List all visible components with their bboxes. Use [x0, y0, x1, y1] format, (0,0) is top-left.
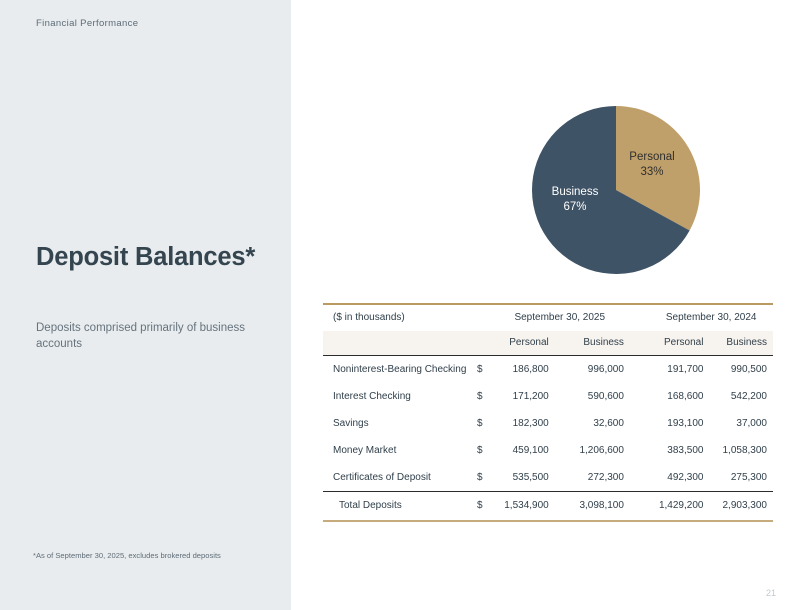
table-period-header-2025: September 30, 2025	[490, 304, 630, 331]
row-label: Savings	[323, 410, 477, 437]
table-header-period-row: ($ in thousands) September 30, 2025 Sept…	[323, 304, 773, 331]
total-gap	[630, 491, 649, 521]
row-gap	[630, 464, 649, 492]
row-currency: $	[477, 410, 490, 437]
row-label: Interest Checking	[323, 383, 477, 410]
row-personal-2024: 383,500	[649, 437, 709, 464]
deposit-balances-table: ($ in thousands) September 30, 2025 Sept…	[323, 303, 773, 522]
section-eyebrow: Financial Performance	[36, 18, 138, 29]
table-row: Noninterest-Bearing Checking $ 186,800 9…	[323, 355, 773, 383]
row-business-2024: 1,058,300	[709, 437, 773, 464]
row-business-2025: 996,000	[555, 355, 630, 383]
total-business-2024: 2,903,300	[709, 491, 773, 521]
pie-svg	[530, 104, 702, 276]
row-currency: $	[477, 464, 490, 492]
row-label: Certificates of Deposit	[323, 464, 477, 492]
row-personal-2025: 186,800	[490, 355, 555, 383]
table-subheader-personal-2025: Personal	[490, 331, 555, 356]
table-units-label: ($ in thousands)	[323, 304, 490, 331]
total-personal-2025: 1,534,900	[490, 491, 555, 521]
left-title-panel: Financial Performance Deposit Balances* …	[0, 0, 291, 610]
row-personal-2024: 193,100	[649, 410, 709, 437]
table-subheader-blank	[323, 331, 490, 356]
row-currency: $	[477, 355, 490, 383]
row-personal-2024: 492,300	[649, 464, 709, 492]
row-business-2025: 32,600	[555, 410, 630, 437]
row-business-2024: 37,000	[709, 410, 773, 437]
row-gap	[630, 437, 649, 464]
row-currency: $	[477, 437, 490, 464]
total-currency: $	[477, 491, 490, 521]
deposit-mix-pie-chart: Personal 33% Business 67%	[530, 104, 702, 276]
row-gap	[630, 383, 649, 410]
row-personal-2025: 182,300	[490, 410, 555, 437]
table-total-row: Total Deposits $ 1,534,900 3,098,100 1,4…	[323, 491, 773, 521]
row-label: Noninterest-Bearing Checking	[323, 355, 477, 383]
content-area: Personal 33% Business 67% ($ in thousand…	[291, 0, 800, 610]
table-header-gap	[630, 304, 649, 331]
row-business-2025: 272,300	[555, 464, 630, 492]
table-subheader-personal-2024: Personal	[649, 331, 709, 356]
table-body: Noninterest-Bearing Checking $ 186,800 9…	[323, 355, 773, 521]
row-personal-2025: 171,200	[490, 383, 555, 410]
row-business-2025: 590,600	[555, 383, 630, 410]
row-personal-2024: 168,600	[649, 383, 709, 410]
row-gap	[630, 410, 649, 437]
row-personal-2024: 191,700	[649, 355, 709, 383]
table-subheader-gap	[630, 331, 649, 356]
total-business-2025: 3,098,100	[555, 491, 630, 521]
row-personal-2025: 535,500	[490, 464, 555, 492]
table-subheader-business-2024: Business	[709, 331, 773, 356]
row-label: Money Market	[323, 437, 477, 464]
table-period-header-2024: September 30, 2024	[649, 304, 773, 331]
table-row: Money Market $ 459,100 1,206,600 383,500…	[323, 437, 773, 464]
page-number: 21	[766, 588, 776, 598]
page-subtitle: Deposits comprised primarily of business…	[36, 320, 256, 352]
row-personal-2025: 459,100	[490, 437, 555, 464]
page-title: Deposit Balances*	[36, 243, 255, 272]
row-business-2024: 990,500	[709, 355, 773, 383]
table-subheader-row: Personal Business Personal Business	[323, 331, 773, 356]
total-label: Total Deposits	[323, 491, 477, 521]
footnote: *As of September 30, 2025, excludes brok…	[33, 550, 263, 561]
row-currency: $	[477, 383, 490, 410]
row-business-2024: 542,200	[709, 383, 773, 410]
table-row: Savings $ 182,300 32,600 193,100 37,000	[323, 410, 773, 437]
row-business-2025: 1,206,600	[555, 437, 630, 464]
table-row: Interest Checking $ 171,200 590,600 168,…	[323, 383, 773, 410]
row-business-2024: 275,300	[709, 464, 773, 492]
total-personal-2024: 1,429,200	[649, 491, 709, 521]
table-subheader-business-2025: Business	[555, 331, 630, 356]
row-gap	[630, 355, 649, 383]
table-row: Certificates of Deposit $ 535,500 272,30…	[323, 464, 773, 492]
